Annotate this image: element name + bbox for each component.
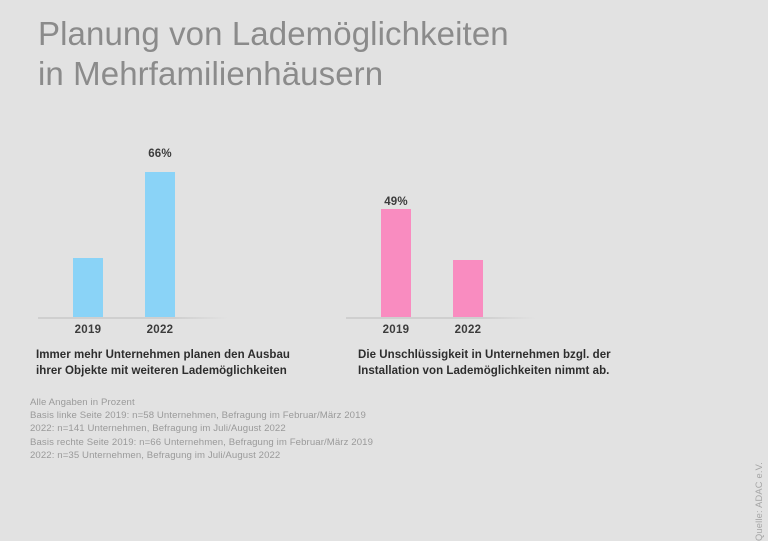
caption-right-chart: Die Unschlüssigkeit in Unternehmen bzgl.… [358, 348, 668, 379]
footnote-line: Alle Angaben in Prozent [30, 396, 460, 409]
bar-left-2022[interactable] [145, 172, 175, 317]
baseline-axis-left [38, 317, 228, 319]
bar-value-right-2019: 49% [366, 196, 426, 208]
baseline-axis-right [346, 317, 536, 319]
footnote-line: Basis rechte Seite 2019: n=66 Unternehme… [30, 436, 460, 449]
footnotes-block: Alle Angaben in Prozent Basis linke Seit… [30, 396, 460, 462]
footnote-line: Basis linke Seite 2019: n=58 Unternehmen… [30, 409, 460, 422]
plot-area-left: 27% 2019 66% 2022 [22, 100, 322, 318]
footnote-line: 2022: n=141 Unternehmen, Befragung im Ju… [30, 422, 460, 435]
caption-left-chart: Immer mehr Unternehmen planen den Ausbau… [36, 348, 336, 379]
source-credit: Quelle: ADAC e.V. [754, 462, 764, 541]
footnote-line: 2022: n=35 Unternehmen, Befragung im Jul… [30, 449, 460, 462]
plot-area-right: 49% 2019 26% 2022 [330, 100, 630, 318]
bar-right-2019[interactable] [381, 209, 411, 317]
bar-category-left-2022: 2022 [130, 324, 190, 336]
chart-panel-right: 49% 2019 26% 2022 [330, 100, 630, 330]
bar-category-right-2019: 2019 [366, 324, 426, 336]
chart-panel-left: 27% 2019 66% 2022 [22, 100, 322, 330]
bar-right-2022[interactable] [453, 260, 483, 317]
bar-category-right-2022: 2022 [438, 324, 498, 336]
infographic-canvas: Planung von Lademöglichkeiten in Mehrfam… [0, 0, 768, 468]
bar-left-2019[interactable] [73, 258, 103, 317]
bar-value-left-2022: 66% [130, 148, 190, 160]
bar-category-left-2019: 2019 [58, 324, 118, 336]
page-title: Planung von Lademöglichkeiten in Mehrfam… [38, 14, 638, 94]
